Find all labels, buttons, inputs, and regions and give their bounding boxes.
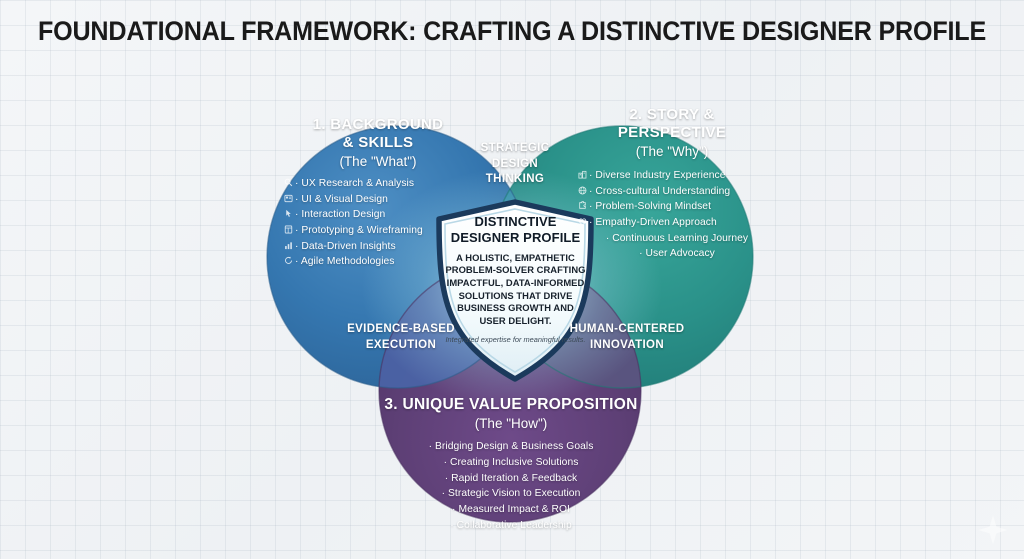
list-item: · Cross-cultural Understanding — [578, 184, 776, 200]
list-item-label: Problem-Solving Mindset — [595, 201, 711, 212]
cursor-icon — [284, 209, 293, 218]
list-item: · User Advocacy — [578, 246, 776, 262]
list-item: · Rapid Iteration & Feedback — [380, 471, 642, 487]
circle-label-story-perspective: 2. STORY & PERSPECTIVE (The "Why") · Div… — [568, 106, 776, 262]
list-item: · Bridging Design & Business Goals — [380, 439, 642, 455]
refresh-cycle-icon — [284, 256, 293, 265]
list-item: · Diverse Industry Experience — [578, 168, 776, 184]
uvp-heading: 3. UNIQUE VALUE PROPOSITION — [384, 396, 637, 413]
bar-chart-icon — [284, 241, 293, 250]
list-item-label: UX Research & Analysis — [301, 178, 414, 189]
list-item-label: Creating Inclusive Solutions — [450, 457, 578, 468]
list-item: · UI & Visual Design — [284, 192, 474, 208]
puzzle-icon — [578, 201, 587, 210]
list-item: · Problem-Solving Mindset — [578, 199, 776, 215]
list-item-label: Collaborative Leadership — [457, 520, 572, 531]
bg-heading-2: & SKILLS — [343, 134, 414, 151]
uvp-subtitle: (The "How") — [380, 416, 642, 432]
list-item-label: Rapid Iteration & Feedback — [451, 473, 577, 484]
list-item-label: Empathy-Driven Approach — [595, 217, 716, 228]
list-item-label: Bridging Design & Business Goals — [435, 441, 593, 452]
wireframe-icon — [284, 225, 293, 234]
list-item-label: User Advocacy — [646, 248, 715, 259]
list-item: · Measured Impact & ROI — [380, 502, 642, 518]
list-item: · UX Research & Analysis — [284, 176, 474, 192]
list-item-label: Data-Driven Insights — [301, 241, 395, 252]
story-subtitle: (The "Why") — [568, 144, 776, 160]
intersection-top-line2: DESIGN — [458, 157, 572, 173]
magnifier-icon — [284, 178, 293, 187]
intersection-top-line1: STRATEGIC — [458, 141, 572, 157]
list-item-label: Continuous Learning Journey — [612, 233, 748, 244]
list-item: · Strategic Vision to Execution — [380, 486, 642, 502]
circle-label-unique-value: 3. UNIQUE VALUE PROPOSITION (The "How") … — [380, 396, 642, 533]
list-item: · Creating Inclusive Solutions — [380, 455, 642, 471]
list-item-label: UI & Visual Design — [301, 194, 388, 205]
list-item-label: Agile Methodologies — [301, 256, 395, 267]
list-item-label: Prototyping & Wireframing — [301, 225, 422, 236]
list-item-label: Interaction Design — [301, 209, 385, 220]
shield-title-line1: DISTINCTIVE — [443, 214, 588, 230]
story-heading-1: 2. STORY & — [629, 106, 714, 123]
shield-body: A HOLISTIC, EMPATHETIC PROBLEM-SOLVER CR… — [443, 252, 588, 328]
list-item: · Empathy-Driven Approach — [578, 215, 776, 231]
building-icon — [578, 170, 587, 179]
bg-heading-1: 1. BACKGROUND — [313, 116, 444, 133]
globe-icon — [578, 186, 587, 195]
list-item-label: Diverse Industry Experience — [595, 170, 725, 181]
shield-title-line2: DESIGNER PROFILE — [443, 230, 588, 246]
story-heading-2: PERSPECTIVE — [618, 124, 726, 141]
list-item-label: Cross-cultural Understanding — [595, 186, 730, 197]
center-shield-text: DISTINCTIVE DESIGNER PROFILE A HOLISTIC,… — [443, 214, 588, 369]
list-item-label: Measured Impact & ROI — [458, 504, 570, 515]
list-item-label: Strategic Vision to Execution — [448, 488, 580, 499]
bg-subtitle: (The "What") — [282, 154, 474, 170]
intersection-top-line3: THINKING — [458, 172, 572, 188]
palette-icon — [284, 194, 293, 203]
shield-footnote: Integrated expertise for meaningful resu… — [443, 335, 588, 345]
sparkle-diamond-icon — [976, 513, 1010, 547]
list-item: · Continuous Learning Journey — [578, 231, 776, 247]
infographic-canvas: FOUNDATIONAL FRAMEWORK: CRAFTING A DISTI… — [0, 0, 1024, 559]
intersection-label-top: STRATEGIC DESIGN THINKING — [458, 141, 572, 188]
list-item: · Collaborative Leadership — [380, 518, 642, 534]
